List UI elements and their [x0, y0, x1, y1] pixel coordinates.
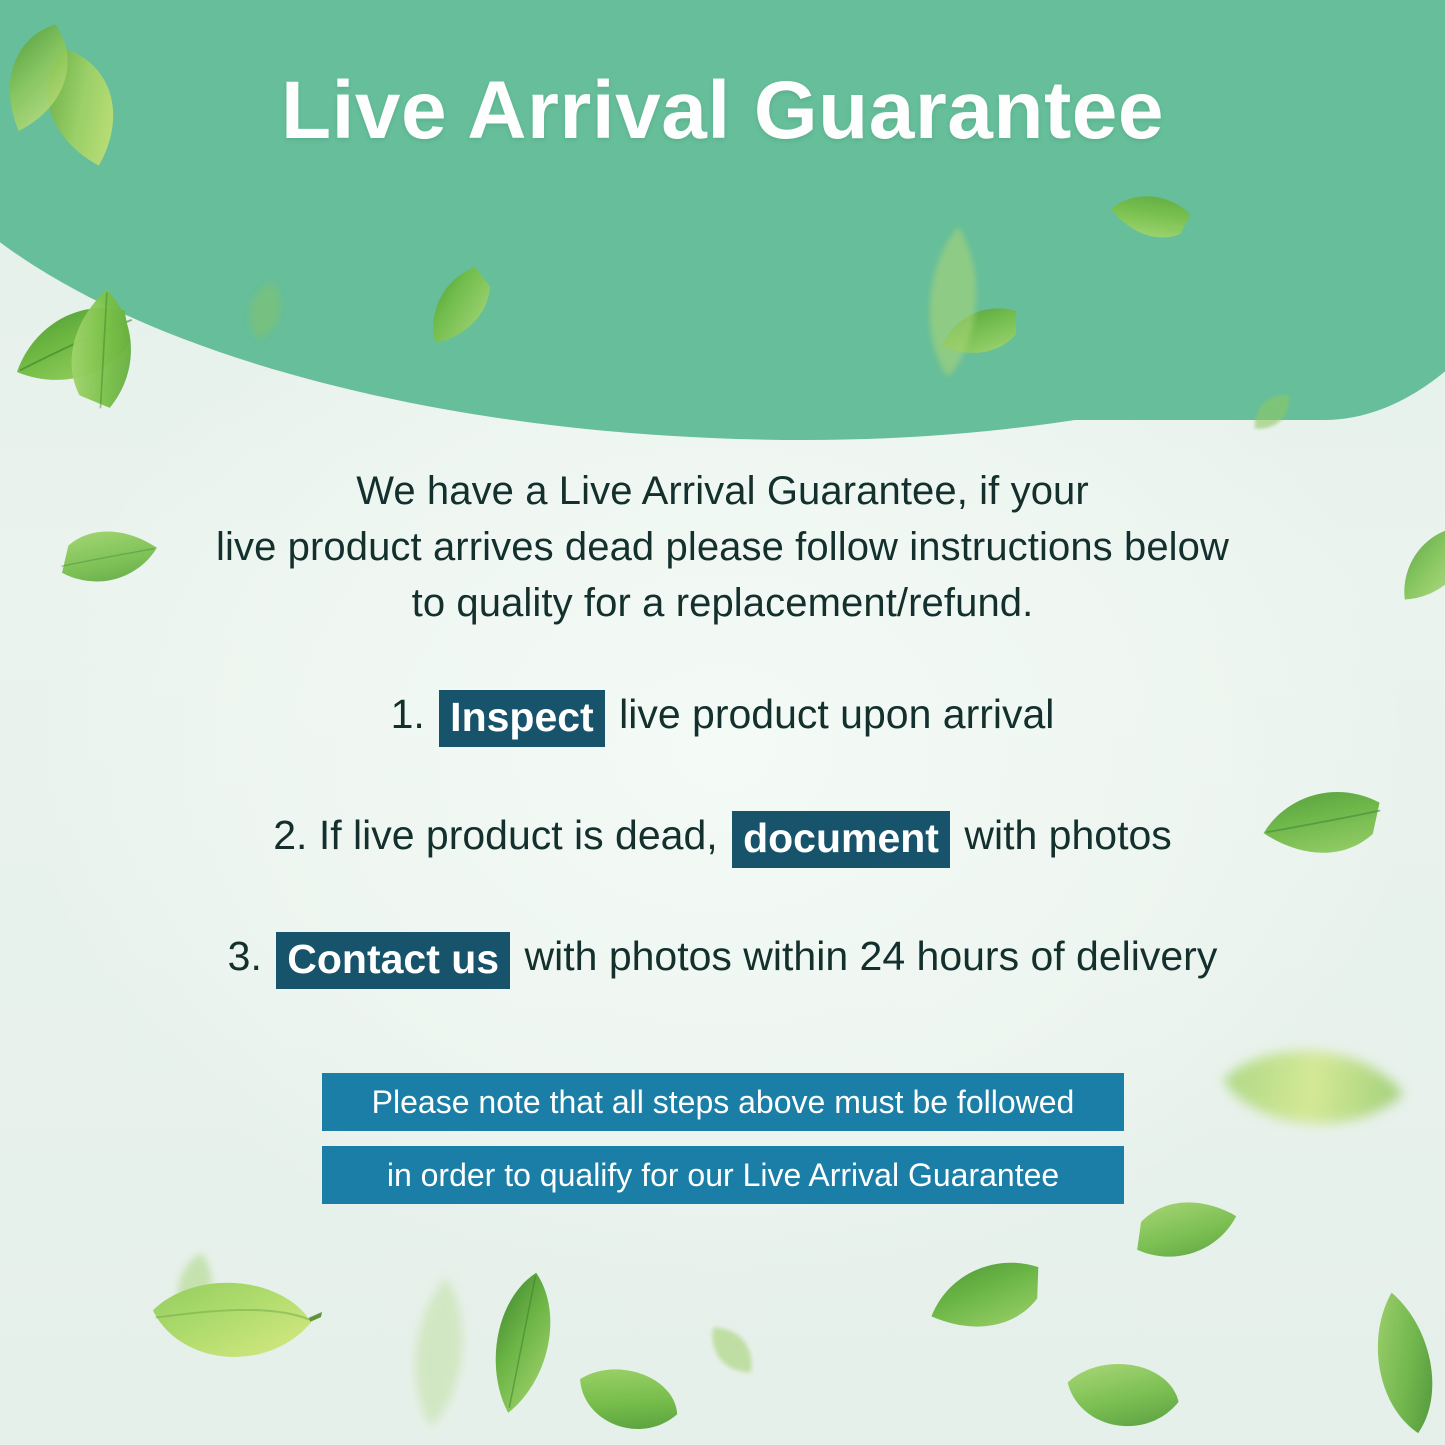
intro-line-3: to quality for a replacement/refund. [0, 575, 1445, 631]
step-item-2: 2. If live product is dead, document wit… [0, 805, 1445, 868]
step-after-2: with photos [964, 812, 1171, 858]
intro-line-1: We have a Live Arrival Guarantee, if you… [0, 463, 1445, 519]
step-after-1: live product upon arrival [619, 691, 1054, 737]
leaf-icon [557, 1333, 698, 1445]
header-green-blob-right [980, 0, 1445, 420]
intro-line-2: live product arrives dead please follow … [0, 519, 1445, 575]
intro-paragraph: We have a Live Arrival Guarantee, if you… [0, 463, 1445, 631]
note-band-2: in order to qualify for our Live Arrival… [322, 1146, 1124, 1204]
step-after-3: with photos within 24 hours of delivery [525, 933, 1218, 979]
page-title: Live Arrival Guarantee [0, 68, 1445, 154]
step-before-2: If live product is dead, [319, 812, 718, 858]
leaf-icon [1344, 1281, 1445, 1445]
step-number-1: 1. [391, 691, 425, 737]
step-highlight-contact-us: Contact us [276, 932, 510, 989]
step-item-1: 1. Inspect live product upon arrival [0, 684, 1445, 747]
step-number-3: 3. [228, 933, 262, 979]
leaf-icon [158, 1243, 233, 1331]
note-band-1: Please note that all steps above must be… [322, 1073, 1124, 1131]
leaf-icon [463, 1260, 582, 1425]
leaf-icon [137, 1246, 328, 1399]
leaf-icon [396, 1269, 482, 1435]
step-highlight-inspect: Inspect [439, 690, 605, 747]
leaf-icon [687, 1305, 777, 1395]
steps-list: 1. Inspect live product upon arrival 2. … [0, 684, 1445, 989]
leaf-icon [922, 1222, 1058, 1358]
leaf-icon [1050, 1329, 1194, 1445]
live-arrival-guarantee-poster: Live Arrival Guarantee We have a Live Ar… [0, 0, 1445, 1445]
step-highlight-document: document [732, 811, 950, 868]
step-item-3: 3. Contact us with photos within 24 hour… [0, 926, 1445, 989]
step-number-2: 2. [273, 812, 307, 858]
leaf-icon [1212, 1012, 1415, 1161]
leaf-icon [1119, 1171, 1246, 1298]
